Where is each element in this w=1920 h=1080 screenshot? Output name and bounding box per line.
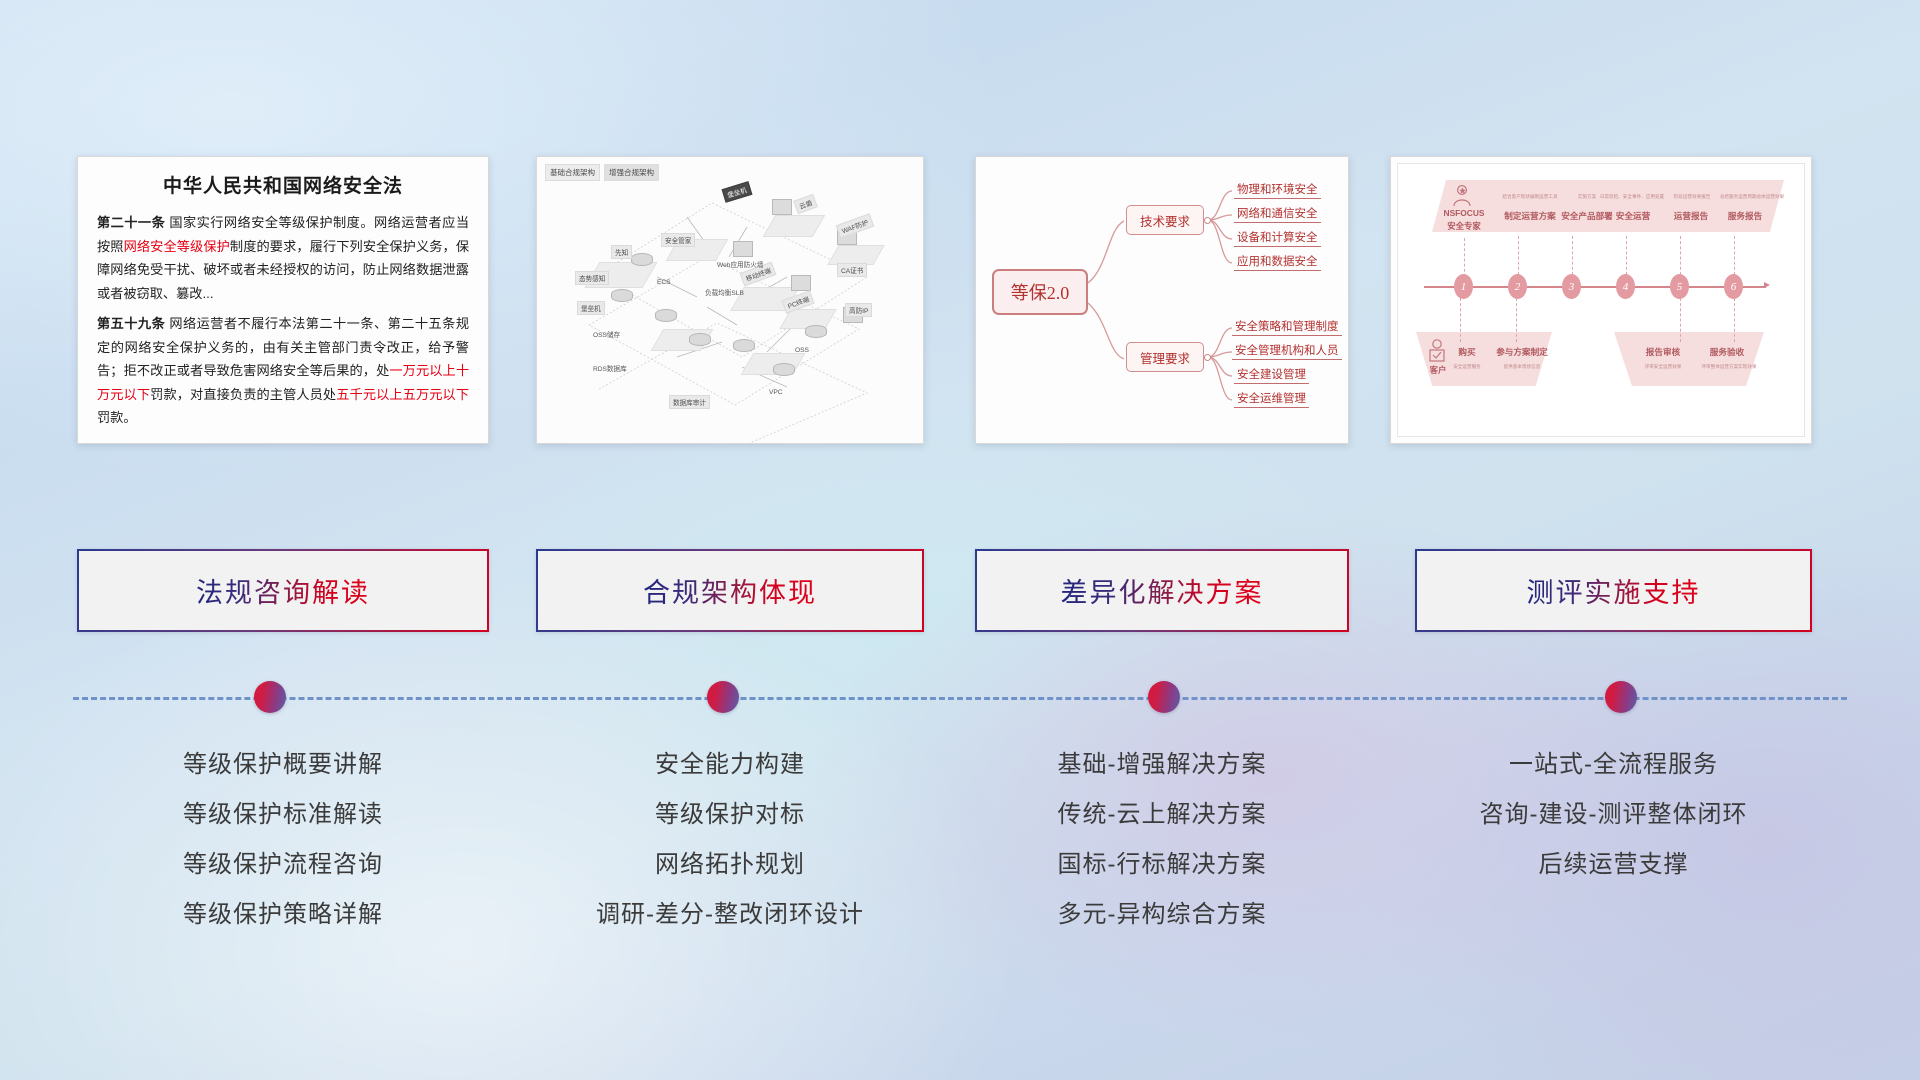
list-item: 等级保护策略详解: [77, 890, 489, 940]
list-item: 传统-云上解决方案: [975, 790, 1349, 840]
list-column-2: 安全能力构建 等级保护对标 网络拓扑规划 调研-差分-整改闭环设计: [536, 740, 924, 940]
list-item: 等级保护对标: [536, 790, 924, 840]
list-item: 咨询-建设-测评整体闭环: [1415, 790, 1812, 840]
list-item: 后续运营支撑: [1415, 840, 1812, 890]
heading-box-assessment-support[interactable]: 测评实施支持: [1415, 549, 1812, 632]
list-column-4: 一站式-全流程服务 咨询-建设-测评整体闭环 后续运营支撑: [1415, 740, 1812, 890]
heading-box-compliance-architecture[interactable]: 合规架构体现: [536, 549, 924, 632]
timeline-dashed-line: [73, 697, 1847, 700]
heading-box-differentiated-solution[interactable]: 差异化解决方案: [975, 549, 1349, 632]
list-item: 一站式-全流程服务: [1415, 740, 1812, 790]
list-column-1: 等级保护概要讲解 等级保护标准解读 等级保护流程咨询 等级保护策略详解: [77, 740, 489, 940]
list-item: 安全能力构建: [536, 740, 924, 790]
timeline-marker-3[interactable]: [1148, 681, 1180, 713]
list-column-3: 基础-增强解决方案 传统-云上解决方案 国标-行标解决方案 多元-异构综合方案: [975, 740, 1349, 940]
list-item: 基础-增强解决方案: [975, 740, 1349, 790]
list-item: 多元-异构综合方案: [975, 890, 1349, 940]
list-item: 等级保护流程咨询: [77, 840, 489, 890]
heading-box-regulation-consulting[interactable]: 法规咨询解读: [77, 549, 489, 632]
heading-label: 法规咨询解读: [196, 571, 370, 610]
timeline-marker-2[interactable]: [707, 681, 739, 713]
list-item: 调研-差分-整改闭环设计: [536, 890, 924, 940]
heading-label: 差异化解决方案: [1061, 571, 1264, 610]
timeline-marker-4[interactable]: [1605, 681, 1637, 713]
heading-row: 法规咨询解读 合规架构体现 差异化解决方案 测评实施支持 等级保护概要讲解 等级…: [0, 0, 1920, 1080]
heading-label: 合规架构体现: [643, 571, 817, 610]
list-item: 网络拓扑规划: [536, 840, 924, 890]
list-item: 等级保护标准解读: [77, 790, 489, 840]
heading-label: 测评实施支持: [1527, 571, 1701, 610]
timeline-marker-1[interactable]: [254, 681, 286, 713]
list-item: 国标-行标解决方案: [975, 840, 1349, 890]
list-item: 等级保护概要讲解: [77, 740, 489, 790]
